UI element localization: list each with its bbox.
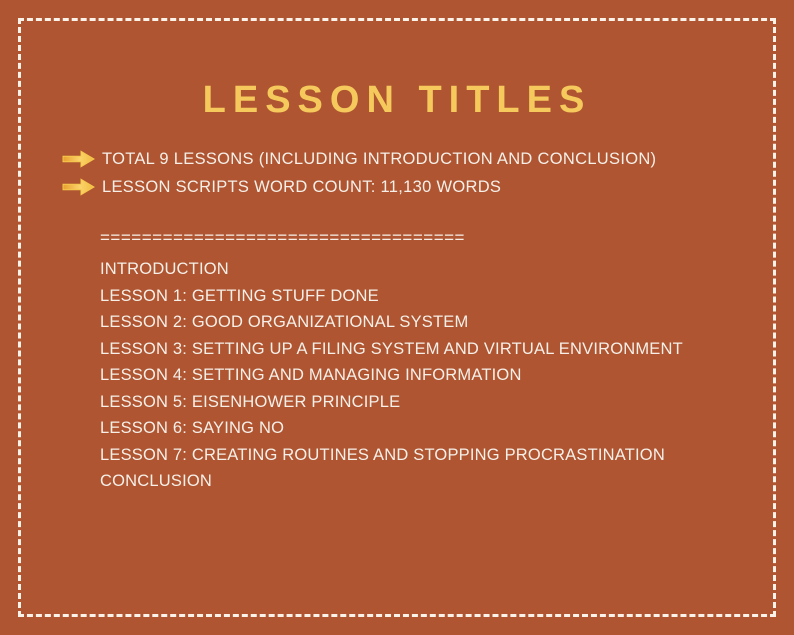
list-item: LESSON 7: CREATING ROUTINES AND STOPPING… (100, 442, 760, 469)
list-item-label: LESSON SCRIPTS WORD COUNT: 11,130 WORDS (102, 177, 501, 197)
lesson-title-list: =================================== INTR… (100, 225, 760, 495)
slide-canvas: LESSON TITLES TOTA (0, 0, 794, 635)
separator-line: =================================== (100, 225, 760, 251)
list-item: LESSON 4: SETTING AND MANAGING INFORMATI… (100, 362, 760, 389)
list-item: LESSON 2: GOOD ORGANIZATIONAL SYSTEM (100, 309, 760, 336)
list-item: LESSON 1: GETTING STUFF DONE (100, 283, 760, 310)
summary-bullet-list: TOTAL 9 LESSONS (INCLUDING INTRODUCTION … (62, 146, 762, 202)
list-item: TOTAL 9 LESSONS (INCLUDING INTRODUCTION … (62, 146, 762, 172)
list-item: LESSON 3: SETTING UP A FILING SYSTEM AND… (100, 336, 760, 363)
list-item: LESSON 5: EISENHOWER PRINCIPLE (100, 389, 760, 416)
slide-content: LESSON TITLES TOTA (0, 0, 794, 635)
list-item: INTRODUCTION (100, 256, 760, 283)
list-item: LESSON 6: SAYING NO (100, 415, 760, 442)
page-title: LESSON TITLES (0, 78, 794, 122)
arrow-right-icon (62, 177, 96, 197)
list-item: LESSON SCRIPTS WORD COUNT: 11,130 WORDS (62, 174, 762, 200)
arrow-right-icon (62, 149, 96, 169)
list-item-label: TOTAL 9 LESSONS (INCLUDING INTRODUCTION … (102, 149, 656, 169)
list-item: CONCLUSION (100, 468, 760, 495)
